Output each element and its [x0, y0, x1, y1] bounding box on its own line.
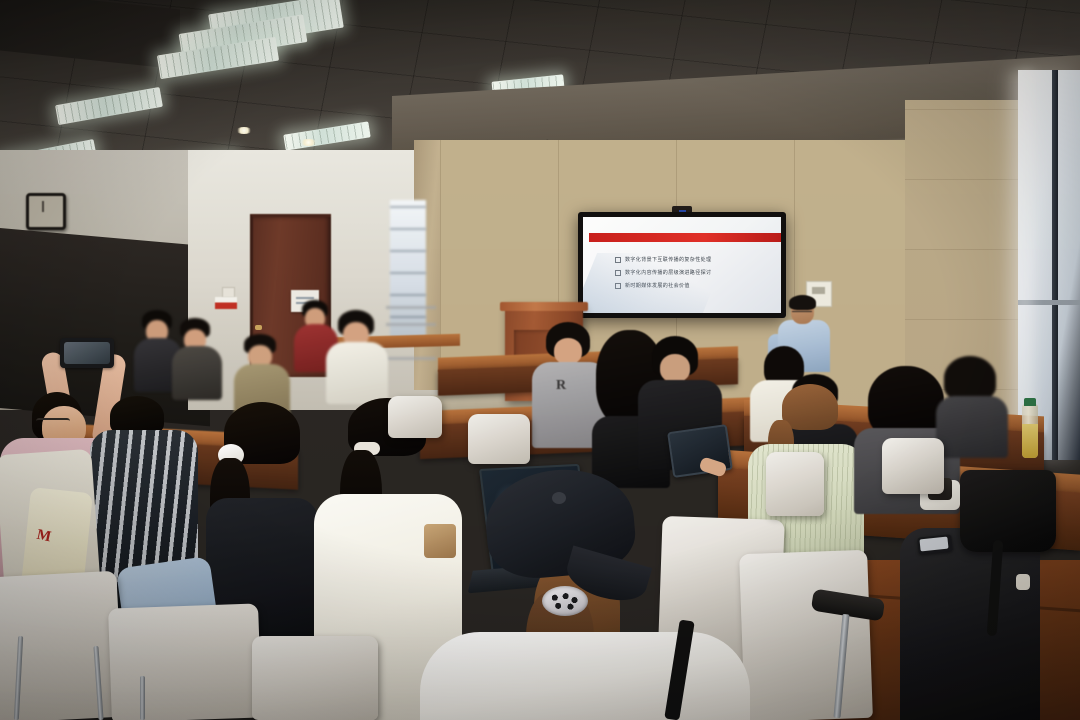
torso [326, 342, 388, 404]
torso [936, 396, 1008, 458]
office-chair[interactable] [766, 452, 824, 516]
office-chair[interactable] [388, 396, 442, 438]
door-handle-icon[interactable] [255, 325, 262, 330]
office-chair[interactable] [739, 550, 873, 720]
presentation-display[interactable]: 数字化背景下互联传播的复杂性处理 数字化内容传播的层级演进路径探讨 新时期媒体发… [578, 212, 786, 318]
slide-content: 数字化背景下互联传播的复杂性处理 数字化内容传播的层级演进路径探讨 新时期媒体发… [583, 217, 781, 313]
hair-tie-beads [548, 590, 582, 612]
wall-clock-icon [26, 193, 66, 230]
lectern-top [500, 302, 588, 311]
chair-leg [140, 676, 145, 720]
ceiling-downlight [236, 127, 252, 134]
head [554, 338, 582, 364]
patch [424, 524, 456, 558]
wall-red-sign [215, 297, 237, 309]
shirt-letter: R [556, 378, 570, 396]
bag-charm [1016, 574, 1030, 590]
head [660, 354, 690, 382]
window-mullion [1052, 70, 1058, 460]
screen-glare [583, 253, 727, 313]
office-chair[interactable] [468, 414, 530, 464]
office-chair[interactable] [252, 636, 378, 720]
window-rail [386, 300, 436, 360]
phone-camera-screen [64, 342, 110, 364]
hair [782, 384, 838, 430]
torso [900, 528, 1040, 720]
bottle-cap [1024, 398, 1036, 406]
drink-bottle[interactable] [1022, 404, 1038, 458]
eyeglasses-icon [792, 311, 812, 316]
bottle-contents [1022, 424, 1038, 458]
torso [172, 346, 222, 400]
cap-button [552, 492, 566, 504]
eyeglasses-icon [36, 418, 70, 427]
office-chair[interactable] [882, 438, 944, 494]
shoulder-bag[interactable] [960, 470, 1056, 552]
presenter-hair [789, 295, 816, 310]
ceiling-downlight [300, 139, 317, 146]
lecture-hall-photo: 数字化背景下互联传播的复杂性处理 数字化内容传播的层级演进路径探讨 新时期媒体发… [0, 0, 1080, 720]
hair [944, 356, 996, 400]
slide-accent-bar [589, 233, 781, 242]
office-chair[interactable] [108, 603, 262, 720]
torso [420, 632, 750, 720]
